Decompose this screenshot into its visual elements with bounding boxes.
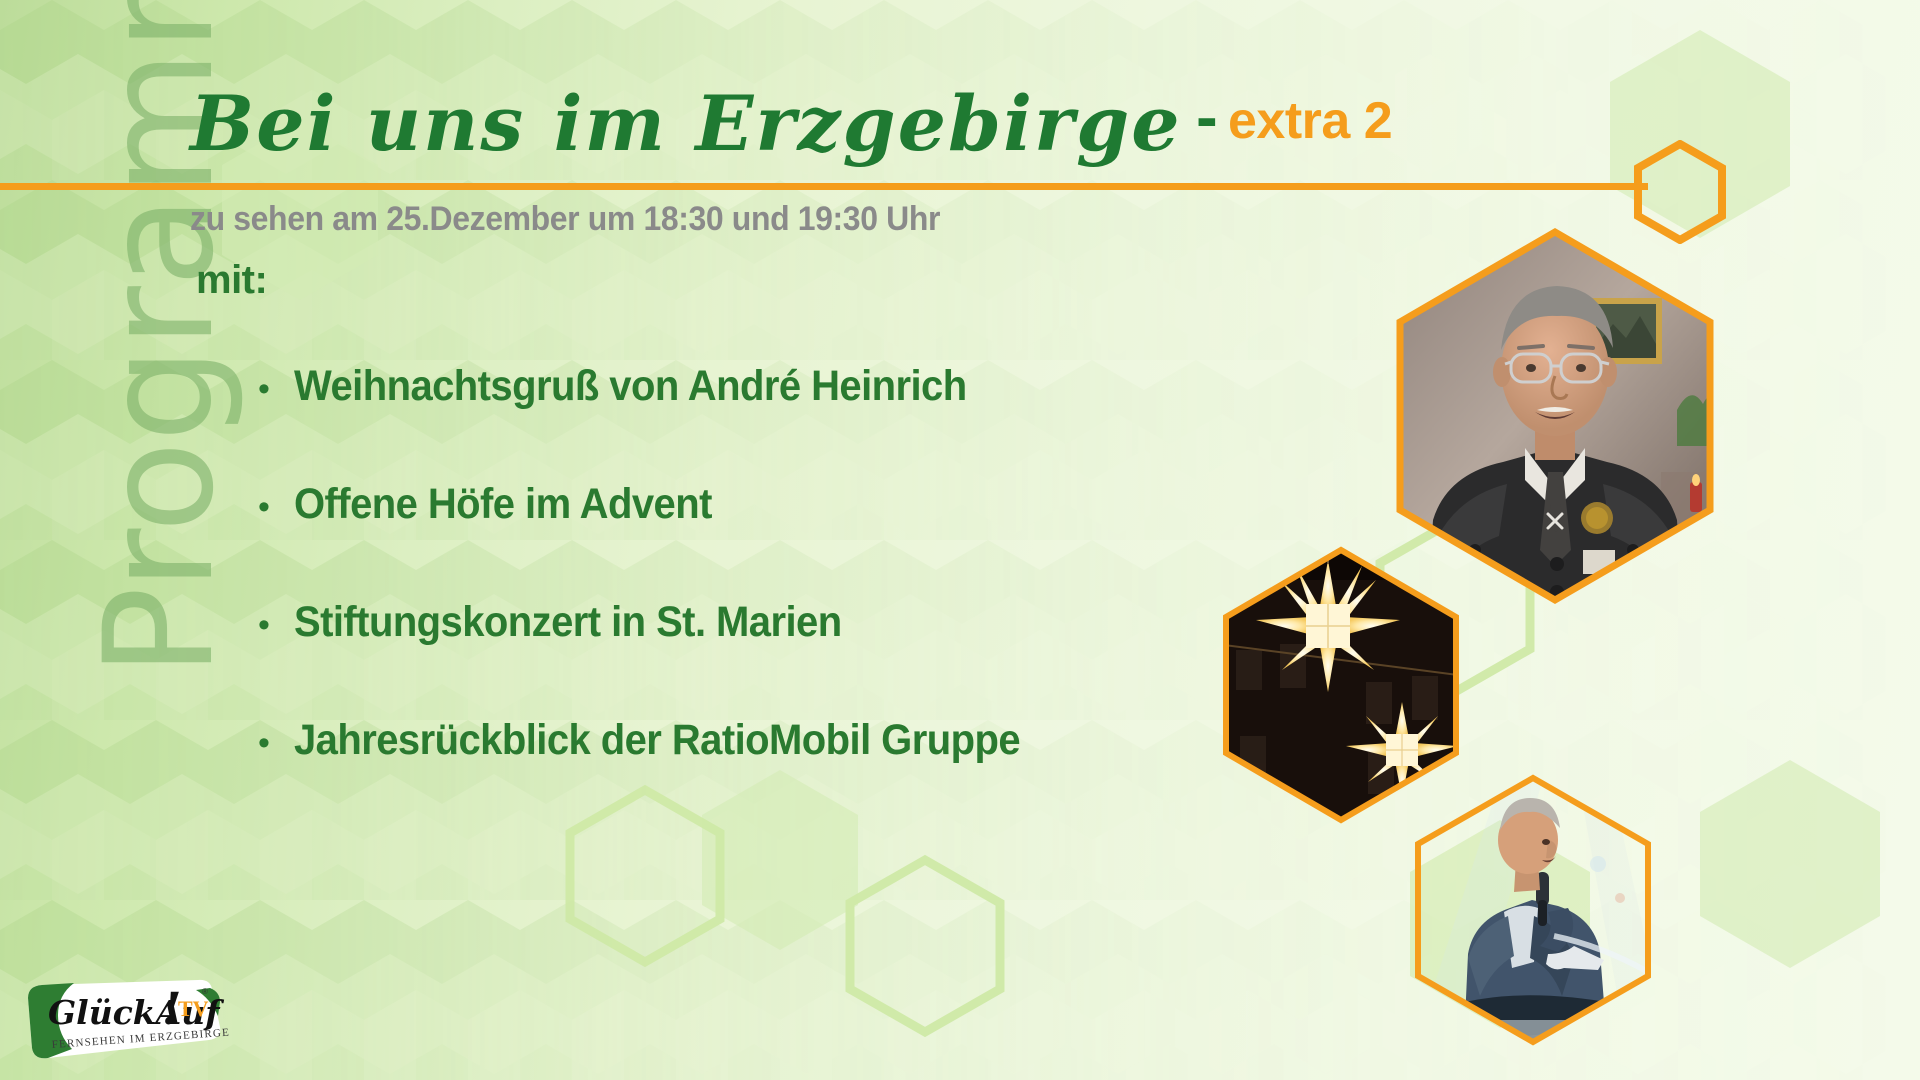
slide-canvas: Programm Bei uns im Erzgebirge-extra 2 z…: [0, 0, 1920, 1080]
list-item: • Weihnachtsgruß von André Heinrich: [258, 362, 1198, 480]
bullet-icon: •: [258, 372, 294, 406]
page-title: Bei uns im Erzgebirge-extra 2: [190, 86, 1392, 162]
list-item: • Jahresrückblick der RatioMobil Gruppe: [258, 716, 1198, 834]
bullet-icon: •: [258, 608, 294, 642]
program-list: • Weihnachtsgruß von André Heinrich • Of…: [258, 362, 1198, 834]
title-extra-part: extra 2: [1228, 92, 1392, 150]
logo-registered-mark: ®: [202, 987, 208, 996]
title-dash: -: [1196, 88, 1218, 151]
list-item-label: Jahresrückblick der RatioMobil Gruppe: [294, 716, 1020, 765]
logo-wordmark-tv: TV: [178, 996, 209, 1021]
photo-hexagon-speaker-with-microphone: [1408, 768, 1658, 1048]
list-item: • Stiftungskonzert in St. Marien: [258, 598, 1198, 716]
bullet-icon: •: [258, 490, 294, 524]
orange-divider-line: [0, 183, 1648, 190]
list-item-label: Weihnachtsgruß von André Heinrich: [294, 362, 967, 411]
list-item: • Offene Höfe im Advent: [258, 480, 1198, 598]
channel-logo[interactable]: GlückAuf ! TV ® FERNSEHEN IM ERZGEBIRGE: [22, 978, 230, 1060]
broadcast-time-subtitle: zu sehen am 25.Dezember um 18:30 und 19:…: [190, 200, 940, 239]
title-script-part: Bei uns im Erzgebirge: [190, 79, 1182, 168]
list-item-label: Stiftungskonzert in St. Marien: [294, 598, 842, 647]
intro-label: mit:: [196, 258, 267, 303]
bullet-icon: •: [258, 726, 294, 760]
list-item-label: Offene Höfe im Advent: [294, 480, 712, 529]
